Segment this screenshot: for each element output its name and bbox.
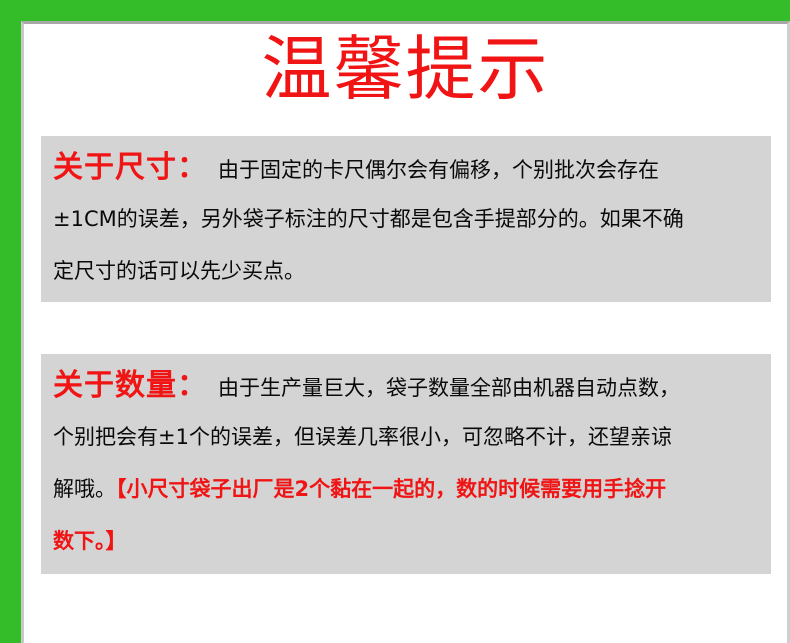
note-qty-line-3-red: 【小尺寸袋子出厂是2个黏在一起的，数的时候需要用手捻开 — [116, 477, 666, 501]
note-block-quantity: 关于数量：由于生产量巨大，袋子数量全部由机器自动点数， 个别把会有±1个的误差，… — [41, 354, 771, 574]
content-panel: 温馨提示 关于尺寸：由于固定的卡尺偶尔会有偏移，个别批次会存在 ±1CM的误差，… — [21, 21, 790, 643]
note-qty-line-2-text: 个别把会有±1个的误差，但误差几率很小，可忽略不计，还望亲谅 — [53, 425, 672, 449]
note-qty-heading: 关于数量： — [53, 368, 208, 403]
green-frame: 温馨提示 关于尺寸：由于固定的卡尺偶尔会有偏移，个别批次会存在 ±1CM的误差，… — [0, 0, 790, 643]
page-title: 温馨提示 — [262, 33, 550, 107]
note-qty-line-4-red: 数下。】 — [53, 529, 127, 553]
note-qty-line-4: 数下。】 — [53, 515, 759, 567]
note-size-line-2-text: ±1CM的误差，另外袋子标注的尺寸都是包含手提部分的。如果不确 — [53, 207, 684, 231]
title-container: 温馨提示 — [24, 24, 787, 107]
note-qty-line-2: 个别把会有±1个的误差，但误差几率很小，可忽略不计，还望亲谅 — [53, 411, 759, 463]
note-size-line-1-text: 由于固定的卡尺偶尔会有偏移，个别批次会存在 — [218, 158, 659, 182]
note-size-line-3-text: 定尺寸的话可以先少买点。 — [53, 259, 305, 283]
note-qty-line-3: 解哦。【小尺寸袋子出厂是2个黏在一起的，数的时候需要用手捻开 — [53, 463, 759, 515]
note-size-line-2: ±1CM的误差，另外袋子标注的尺寸都是包含手提部分的。如果不确 — [53, 193, 759, 245]
note-qty-line-1-text: 由于生产量巨大，袋子数量全部由机器自动点数， — [218, 376, 680, 400]
note-size-line-1: 关于尺寸：由于固定的卡尺偶尔会有偏移，个别批次会存在 — [53, 145, 759, 193]
note-qty-line-3-black: 解哦。 — [53, 477, 116, 501]
note-qty-line-1: 关于数量：由于生产量巨大，袋子数量全部由机器自动点数， — [53, 363, 759, 411]
note-block-size: 关于尺寸：由于固定的卡尺偶尔会有偏移，个别批次会存在 ±1CM的误差，另外袋子标… — [41, 136, 771, 302]
note-size-line-3: 定尺寸的话可以先少买点。 — [53, 245, 759, 297]
note-size-heading: 关于尺寸： — [53, 150, 208, 185]
